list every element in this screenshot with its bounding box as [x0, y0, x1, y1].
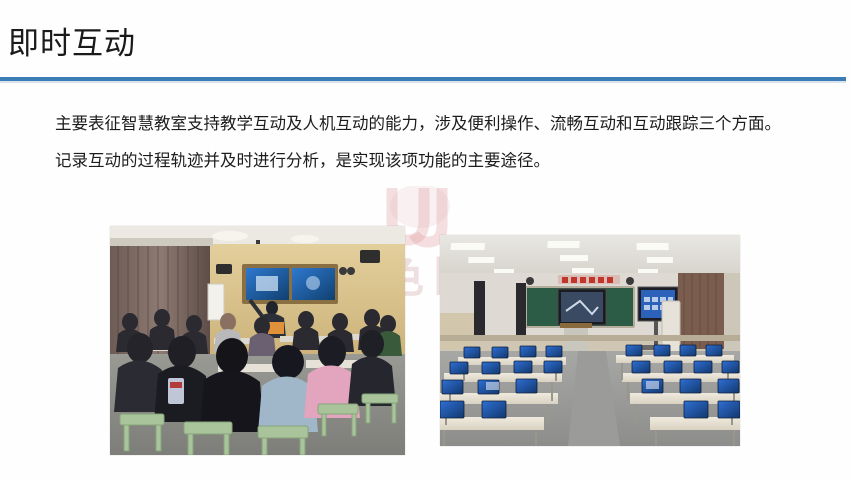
- photo-classroom-tablets-image: [440, 235, 740, 446]
- photo-classroom-lecture: [110, 226, 405, 455]
- paragraph-2: 记录互动的过程轨迹并及时进行分析，是实现该项功能的主要途径。: [22, 145, 834, 178]
- photo-classroom-tablets: [440, 235, 740, 446]
- body-text-block: 主要表征智慧教室支持教学互动及人机互动的能力，涉及便利操作、流畅互动和互动跟踪三…: [22, 108, 834, 178]
- paragraph-1: 主要表征智慧教室支持教学互动及人机互动的能力，涉及便利操作、流畅互动和互动跟踪三…: [22, 108, 834, 141]
- page-title: 即时互动: [8, 24, 136, 64]
- photo-classroom-lecture-image: [110, 226, 405, 455]
- slide-root: 即时互动 主要表征智慧教室支持教学互动及人机互动的能力，涉及便利操作、流畅互动和…: [0, 0, 850, 479]
- title-divider-shadow: [0, 81, 846, 83]
